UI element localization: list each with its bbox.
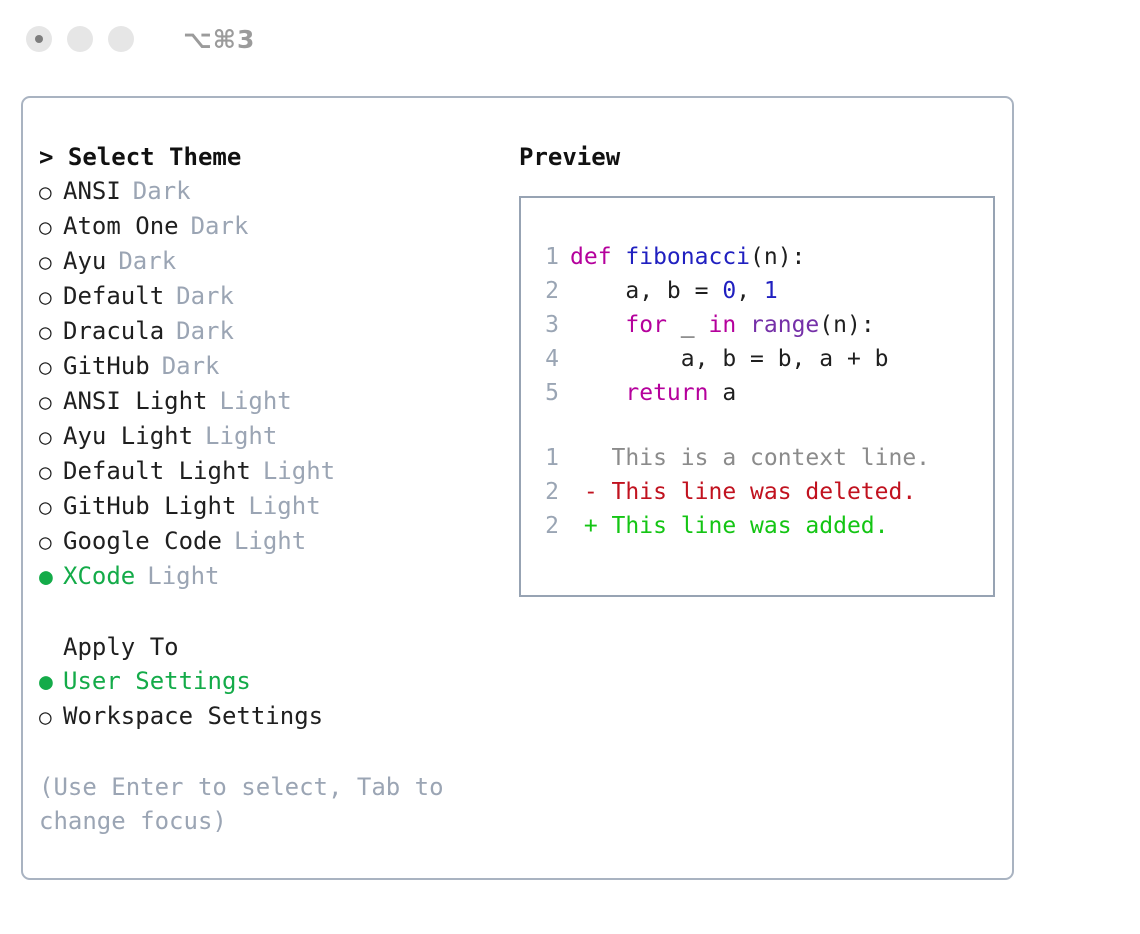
line-number: 2 <box>537 509 559 543</box>
radio-unselected-icon: ○ <box>39 525 63 559</box>
theme-name: ANSI Light <box>63 384 208 418</box>
diff-line: 2 + This line was added. <box>537 509 993 543</box>
code-line: 1def fibonacci(n): <box>537 240 993 274</box>
main-panel: > Select Theme ○ANSIDark○Atom OneDark○Ay… <box>21 96 1014 880</box>
theme-name: GitHub <box>63 349 150 383</box>
code-token-plain <box>570 380 625 406</box>
minimize-button[interactable] <box>67 26 93 52</box>
theme-name: Google Code <box>63 524 222 558</box>
theme-list-item[interactable]: ○GitHub LightLight <box>39 489 504 524</box>
theme-kind-badge: Dark <box>176 279 234 313</box>
theme-list-item[interactable]: ○DefaultDark <box>39 279 504 314</box>
code-sample: 1def fibonacci(n):2 a, b = 0, 13 for _ i… <box>537 240 993 410</box>
preview-box: 1def fibonacci(n):2 a, b = 0, 13 for _ i… <box>519 196 995 597</box>
theme-list-item[interactable]: ○DraculaDark <box>39 314 504 349</box>
diff-sample: 1 This is a context line.2 - This line w… <box>537 441 993 543</box>
code-token-fn: fibonacci <box>625 244 750 270</box>
hint-text: (Use Enter to select, Tab to change focu… <box>39 770 449 838</box>
radio-unselected-icon: ○ <box>39 700 63 734</box>
theme-list[interactable]: ○ANSIDark○Atom OneDark○AyuDark○DefaultDa… <box>39 174 504 594</box>
theme-kind-badge: Light <box>220 384 292 418</box>
line-number: 4 <box>537 342 559 376</box>
theme-selection-column: > Select Theme ○ANSIDark○Atom OneDark○Ay… <box>39 140 504 838</box>
diff-text-context: This is a context line. <box>570 445 930 471</box>
theme-list-item[interactable]: ○Atom OneDark <box>39 209 504 244</box>
preview-header: Preview <box>519 140 1012 174</box>
select-theme-header: > Select Theme <box>39 140 504 174</box>
line-number: 1 <box>537 240 559 274</box>
radio-unselected-icon: ○ <box>39 210 63 244</box>
theme-kind-badge: Light <box>234 524 306 558</box>
radio-unselected-icon: ○ <box>39 350 63 384</box>
close-dot-icon <box>35 35 43 43</box>
theme-list-item[interactable]: ○ANSIDark <box>39 174 504 209</box>
code-line: 5 return a <box>537 376 993 410</box>
line-number: 1 <box>537 441 559 475</box>
code-token-num: 0 <box>722 278 736 304</box>
code-token-plain: , <box>736 278 764 304</box>
theme-kind-badge: Dark <box>162 349 220 383</box>
theme-kind-badge: Light <box>263 454 335 488</box>
code-token-plain <box>736 312 750 338</box>
diff-line: 1 This is a context line. <box>537 441 993 475</box>
code-token-kw: in <box>708 312 736 338</box>
code-token-plain: (n): <box>750 244 805 270</box>
radio-unselected-icon: ○ <box>39 385 63 419</box>
theme-name: Dracula <box>63 314 164 348</box>
diff-text-add: + This line was added. <box>570 513 889 539</box>
code-token-plain: a <box>708 380 736 406</box>
radio-unselected-icon: ○ <box>39 420 63 454</box>
theme-list-item[interactable]: ○GitHubDark <box>39 349 504 384</box>
radio-unselected-icon: ○ <box>39 490 63 524</box>
theme-kind-badge: Dark <box>133 174 191 208</box>
radio-unselected-icon: ○ <box>39 175 63 209</box>
theme-list-item[interactable]: ○ANSI LightLight <box>39 384 504 419</box>
apply-to-item[interactable]: ○Workspace Settings <box>39 699 504 734</box>
theme-name: Default Light <box>63 454 251 488</box>
panel-columns: > Select Theme ○ANSIDark○Atom OneDark○Ay… <box>23 98 1012 838</box>
apply-to-header: Apply To <box>39 630 504 664</box>
code-token-plain <box>570 312 625 338</box>
radio-unselected-icon: ○ <box>39 280 63 314</box>
diff-text-del: - This line was deleted. <box>570 479 916 505</box>
radio-selected-icon: ● <box>39 560 63 594</box>
theme-name: Atom One <box>63 209 179 243</box>
theme-kind-badge: Light <box>205 419 277 453</box>
radio-unselected-icon: ○ <box>39 245 63 279</box>
code-token-plain: (n): <box>819 312 874 338</box>
apply-to-label: User Settings <box>63 664 251 698</box>
theme-kind-badge: Dark <box>176 314 234 348</box>
title-bar: ⌥⌘3 <box>0 0 1140 78</box>
code-line: 2 a, b = 0, 1 <box>537 274 993 308</box>
theme-kind-badge: Light <box>147 559 219 593</box>
apply-to-section: Apply To ●User Settings○Workspace Settin… <box>39 630 504 734</box>
theme-name: ANSI <box>63 174 121 208</box>
theme-kind-badge: Dark <box>191 209 249 243</box>
code-token-plain: _ <box>667 312 709 338</box>
radio-unselected-icon: ○ <box>39 455 63 489</box>
code-line: 3 for _ in range(n): <box>537 308 993 342</box>
code-token-plain: a, b = <box>570 278 722 304</box>
radio-unselected-icon: ○ <box>39 315 63 349</box>
theme-name: Ayu <box>63 244 106 278</box>
keyboard-shortcut-label: ⌥⌘3 <box>183 25 255 54</box>
theme-name: GitHub Light <box>63 489 236 523</box>
code-token-builtin: range <box>750 312 819 338</box>
app-window: ⌥⌘3 > Select Theme ○ANSIDark○Atom OneDar… <box>0 0 1140 934</box>
theme-name: Ayu Light <box>63 419 193 453</box>
theme-list-item[interactable]: ○Ayu LightLight <box>39 419 504 454</box>
theme-name: Default <box>63 279 164 313</box>
theme-list-item[interactable]: ○AyuDark <box>39 244 504 279</box>
apply-to-item[interactable]: ●User Settings <box>39 664 504 699</box>
code-token-plain: a, b = b, a + b <box>570 346 889 372</box>
code-token-num: 1 <box>764 278 778 304</box>
radio-selected-icon: ● <box>39 665 63 699</box>
line-number: 2 <box>537 274 559 308</box>
diff-line: 2 - This line was deleted. <box>537 475 993 509</box>
apply-to-list[interactable]: ●User Settings○Workspace Settings <box>39 664 504 734</box>
zoom-button[interactable] <box>108 26 134 52</box>
line-number: 5 <box>537 376 559 410</box>
code-diff-spacer <box>537 410 993 441</box>
apply-to-label: Workspace Settings <box>63 699 323 733</box>
theme-list-item[interactable]: ○Default LightLight <box>39 454 504 489</box>
code-line: 4 a, b = b, a + b <box>537 342 993 376</box>
theme-kind-badge: Dark <box>118 244 176 278</box>
theme-list-item[interactable]: ●XCodeLight <box>39 559 504 594</box>
code-token-kw: for <box>625 312 667 338</box>
close-button[interactable] <box>26 26 52 52</box>
preview-column: Preview 1def fibonacci(n):2 a, b = 0, 13… <box>504 140 1012 838</box>
line-number: 3 <box>537 308 559 342</box>
code-token-kw: return <box>625 380 708 406</box>
theme-list-item[interactable]: ○Google CodeLight <box>39 524 504 559</box>
theme-name: XCode <box>63 559 135 593</box>
theme-kind-badge: Light <box>248 489 320 523</box>
code-token-kw: def <box>570 244 625 270</box>
line-number: 2 <box>537 475 559 509</box>
